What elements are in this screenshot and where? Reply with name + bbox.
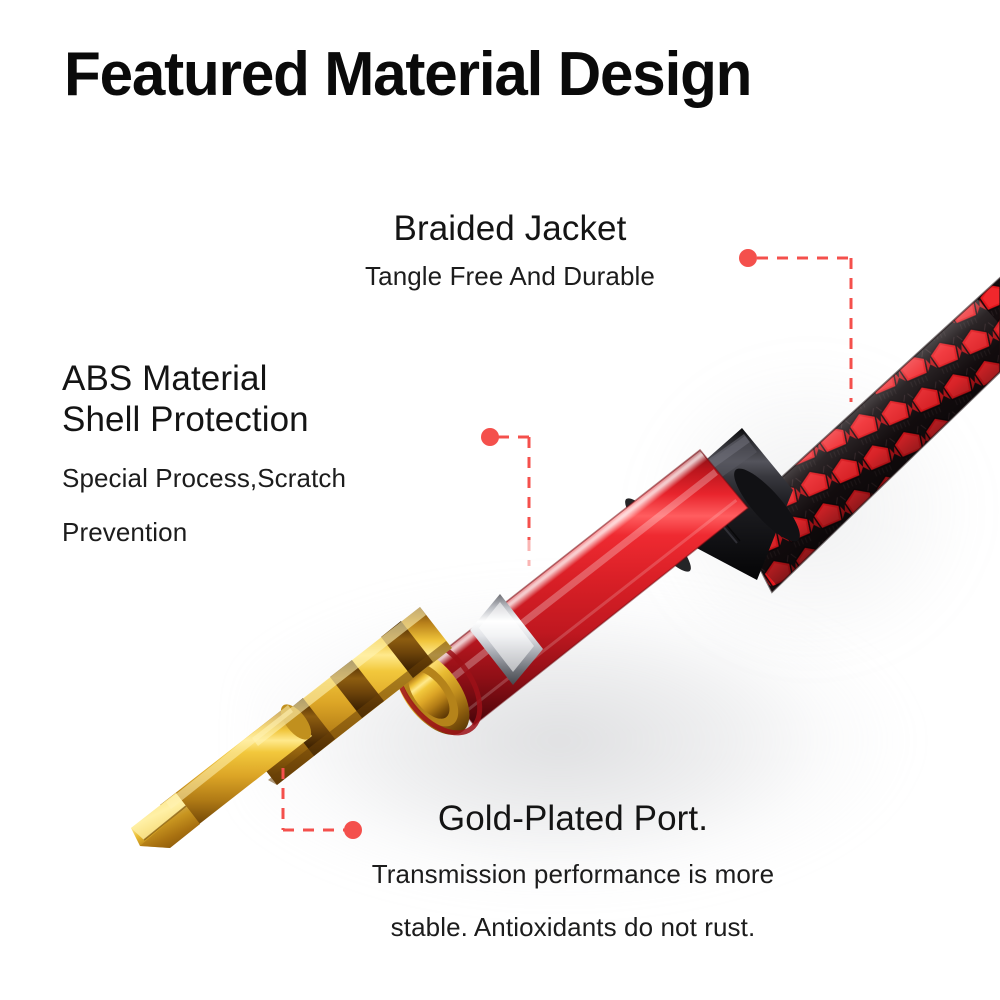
infographic-page: Featured Material Design Braided Jacket … <box>0 0 1000 1000</box>
callout-subtitle-abs-material-line2: Prevention <box>62 515 492 549</box>
leader-braided-jacket <box>739 249 851 402</box>
product-floor-shadow-secondary <box>600 300 1000 720</box>
strain-relief-collar <box>618 428 809 580</box>
callout-subtitle-braided-jacket: Tangle Free And Durable <box>290 259 730 293</box>
leader-dot-braided <box>739 249 757 267</box>
callout-title-abs-material-line1: ABS Material <box>62 358 492 399</box>
callout-subtitle-gold-plated-port-line1: Transmission performance is more <box>268 857 878 891</box>
callout-title-gold-plated-port: Gold-Plated Port. <box>268 798 878 839</box>
callout-subtitle-abs-material-line1: Special Process,Scratch <box>62 461 492 495</box>
page-title: Featured Material Design <box>64 44 751 106</box>
callout-abs-material: ABS Material Shell Protection Special Pr… <box>62 358 492 549</box>
callout-title-abs-material-line2: Shell Protection <box>62 399 492 440</box>
callout-title-braided-jacket: Braided Jacket <box>290 208 730 249</box>
braided-cable-sleeve <box>689 250 1000 630</box>
chrome-ring-band <box>470 594 543 685</box>
callout-subtitle-gold-plated-port-line2: stable. Antioxidants do not rust. <box>268 910 878 944</box>
callout-braided-jacket: Braided Jacket Tangle Free And Durable <box>290 208 730 294</box>
plug-gold-collar <box>380 624 497 749</box>
callout-gold-plated-port: Gold-Plated Port. Transmission performan… <box>268 798 878 944</box>
